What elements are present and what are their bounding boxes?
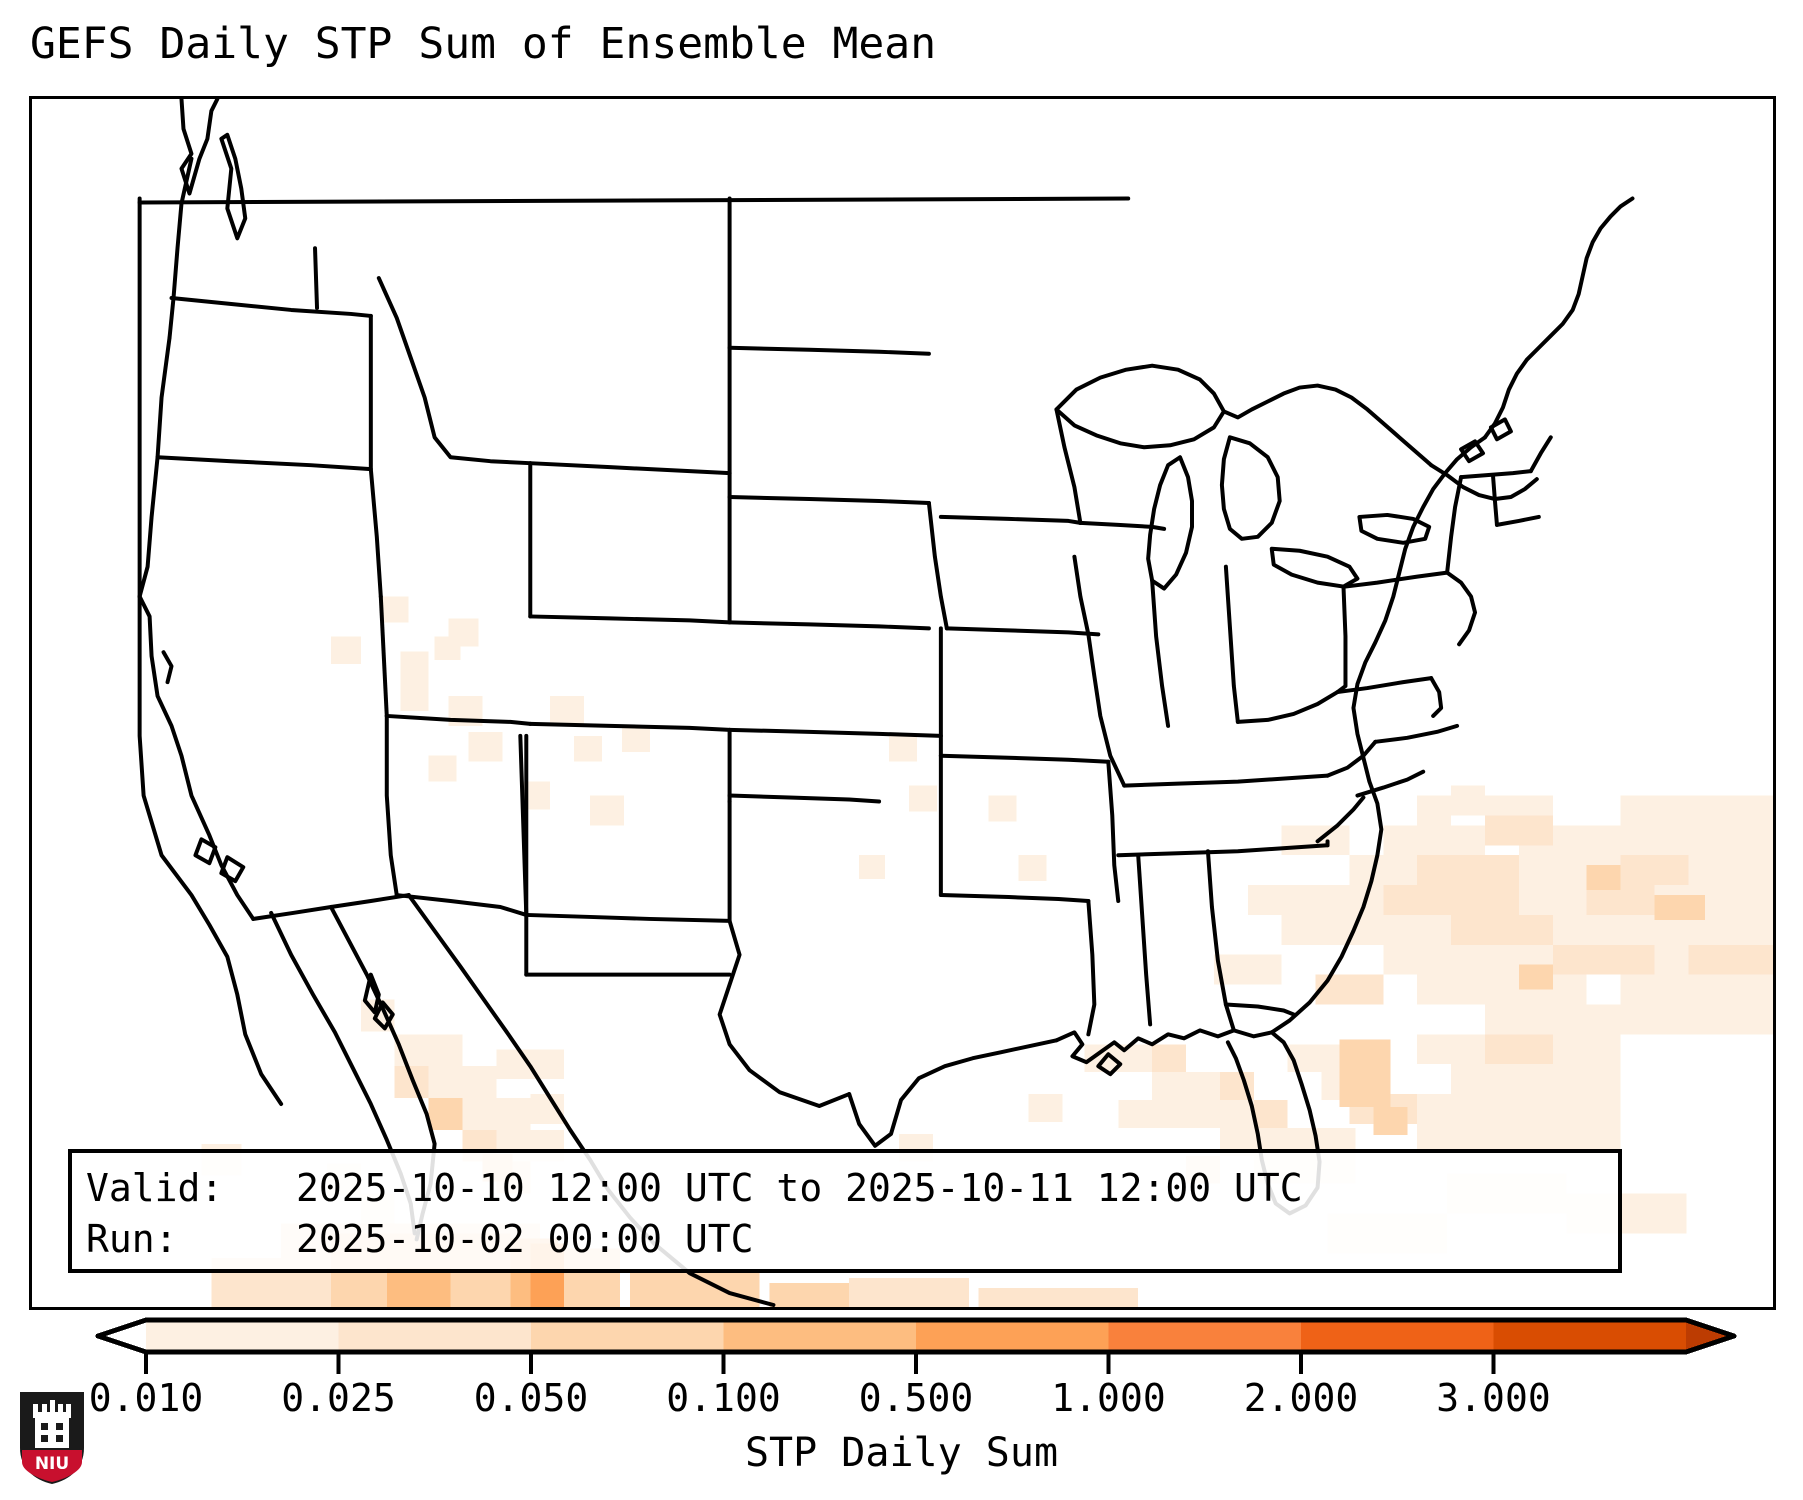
colorbar-segment [146, 1320, 339, 1352]
run-value: 2025-10-02 00:00 UTC [296, 1214, 754, 1265]
valid-label: Valid: [86, 1163, 296, 1214]
colorbar-tick-label: 0.025 [281, 1375, 395, 1421]
colorbar-segment [1494, 1320, 1687, 1352]
map-panel[interactable]: Valid: 2025-10-10 12:00 UTC to 2025-10-1… [29, 96, 1776, 1310]
run-line: Run: 2025-10-02 00:00 UTC [86, 1214, 1604, 1265]
page-title: GEFS Daily STP Sum of Ensemble Mean [30, 16, 936, 72]
colorbar-tick-label: 2.000 [1244, 1375, 1358, 1421]
valid-value: 2025-10-10 12:00 UTC to 2025-10-11 12:00… [296, 1163, 1303, 1214]
colorbar-segment [1301, 1320, 1494, 1352]
niu-logo: NIU [16, 1390, 88, 1486]
run-label: Run: [86, 1214, 296, 1265]
colorbar-tick-labels: 0.0100.0250.0500.1000.5001.0002.0003.000 [0, 1375, 1803, 1425]
colorbar-tick-label: 0.500 [859, 1375, 973, 1421]
colorbar-tick-label: 0.050 [474, 1375, 588, 1421]
map-outlines [140, 99, 1633, 1305]
colorbar-tick-label: 1.000 [1051, 1375, 1165, 1421]
colorbar-tick-label: 3.000 [1436, 1375, 1550, 1421]
colorbar-segment [531, 1320, 724, 1352]
colorbar-tick-label: 0.010 [89, 1375, 203, 1421]
map-canvas [32, 99, 1773, 1307]
colorbar-segment [339, 1320, 532, 1352]
colorbar-segment [916, 1320, 1109, 1352]
colorbar-segments [98, 1320, 1734, 1352]
colorbar-tick-label: 0.100 [666, 1375, 780, 1421]
colorbar-axis-label: STP Daily Sum [0, 1428, 1803, 1478]
colorbar-segment [724, 1320, 917, 1352]
valid-run-info-box: Valid: 2025-10-10 12:00 UTC to 2025-10-1… [68, 1149, 1622, 1273]
niu-wordmark: NIU [35, 1454, 69, 1474]
colorbar-segment [1109, 1320, 1302, 1352]
gefs-stp-map-page: GEFS Daily STP Sum of Ensemble Mean [0, 0, 1803, 1500]
valid-line: Valid: 2025-10-10 12:00 UTC to 2025-10-1… [86, 1163, 1604, 1214]
